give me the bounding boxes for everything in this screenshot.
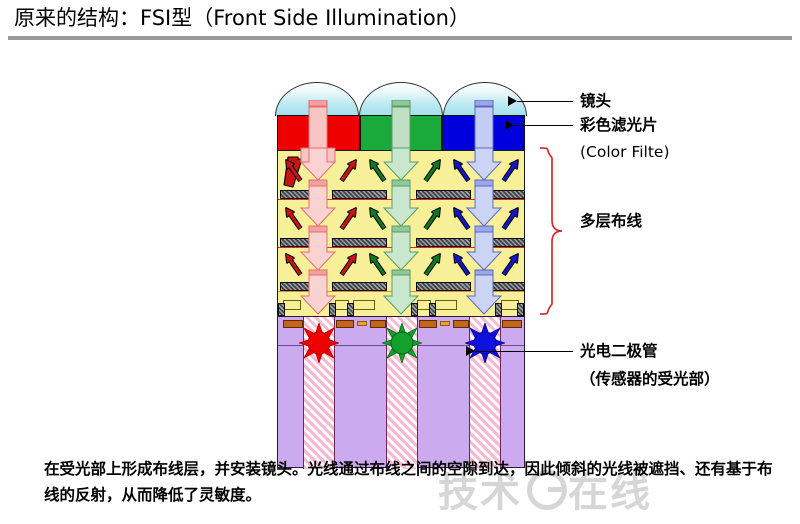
photodiode-callout-arrowhead <box>466 346 475 356</box>
contact-plug <box>411 303 418 316</box>
photo-conversion-burst-blue <box>465 323 505 363</box>
contact-plug <box>329 303 336 316</box>
gate-structure <box>283 300 301 310</box>
silicon-substrate <box>277 316 525 468</box>
photo-conversion-burst-green <box>382 323 422 363</box>
contact-plug <box>278 303 285 316</box>
microlens-green <box>359 82 443 116</box>
contact-plug <box>429 303 436 316</box>
microlens-red <box>275 82 359 116</box>
sensor-cross-section <box>277 82 525 468</box>
photodiode-callout-leader <box>475 351 573 352</box>
callout-color-filter-label-cn: 彩色滤光片 <box>580 114 658 136</box>
multilayer-wiring-brace <box>538 146 572 316</box>
microlens-array <box>277 82 525 116</box>
color-filter-array <box>277 115 525 151</box>
gate-structure <box>435 300 457 310</box>
contact-plug <box>347 303 354 316</box>
fsi-sensor-diagram: 技术在线 <box>0 46 800 446</box>
gate-structure <box>353 300 375 310</box>
multilayer-wiring-region <box>277 150 525 317</box>
callout-photodiode-label: 光电二极管 <box>580 340 658 362</box>
surface-contact <box>502 320 522 328</box>
light-ray-arrows <box>278 151 526 318</box>
lens-callout-leader <box>517 101 573 102</box>
callout-color-filter-label-en: (Color Filte) <box>580 141 670 163</box>
color-filter-callout-leader <box>514 125 573 126</box>
color-filter-red <box>277 115 360 151</box>
lens-callout-arrowhead <box>508 96 517 106</box>
page-title: 原来的结构：FSI型（Front Side Illumination） <box>14 2 470 34</box>
photo-conversion-burst-red <box>299 323 339 363</box>
callout-photodiode-note: （传感器的受光部） <box>580 368 720 390</box>
callout-lens-label: 镜头 <box>580 90 611 112</box>
color-filter-green <box>360 115 443 151</box>
callout-multilayer-wiring-label: 多层布线 <box>580 210 642 232</box>
contact-plug <box>495 303 502 316</box>
title-bar: 原来的结构：FSI型（Front Side Illumination） <box>0 0 800 42</box>
surface-contact <box>357 321 367 326</box>
figure-caption: 在受光部上形成布线层，并安装镜头。光线通过布线之间的空隙到达，因此倾斜的光线被遮… <box>44 456 784 508</box>
color-filter-callout-arrowhead <box>505 120 514 130</box>
title-divider <box>8 36 792 40</box>
contact-plug <box>517 303 524 316</box>
surface-contact <box>440 321 450 326</box>
